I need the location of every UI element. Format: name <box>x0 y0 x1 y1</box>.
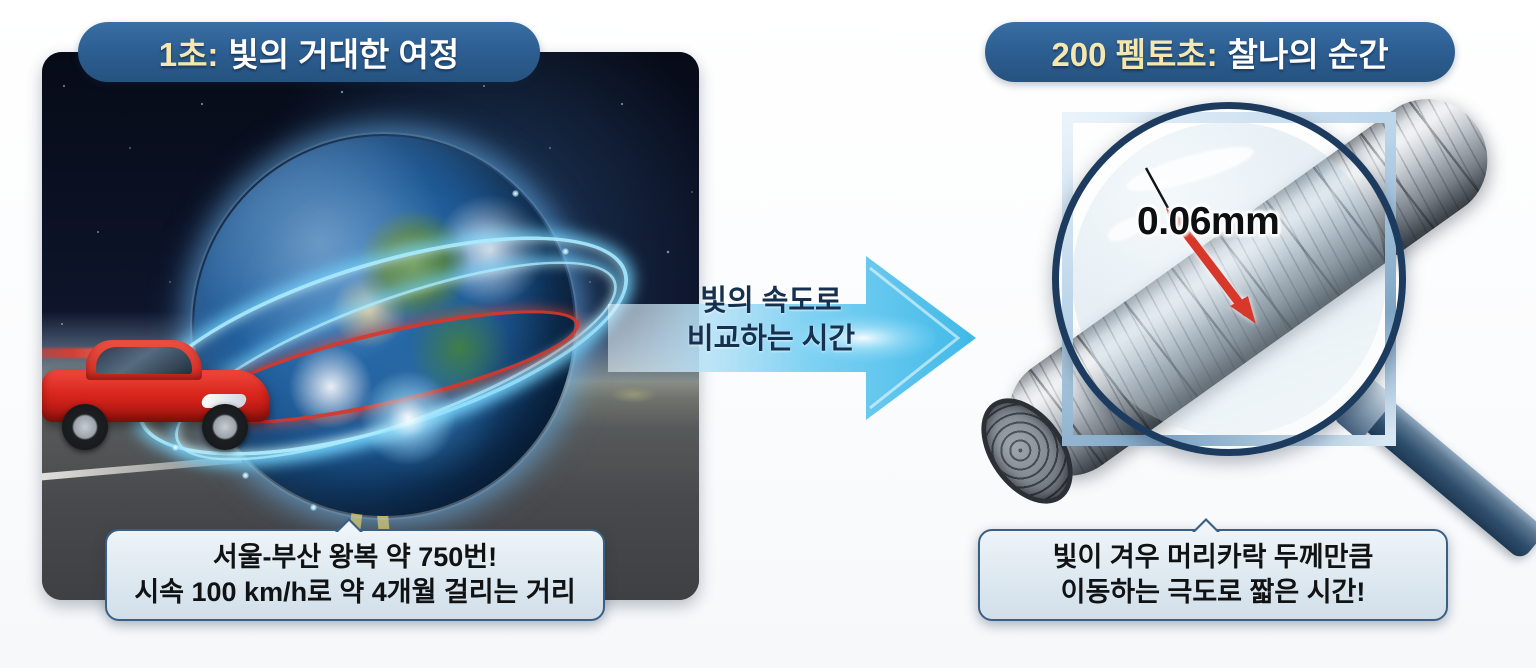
right-caption-line2: 이동하는 극도로 짧은 시간! <box>1061 575 1366 610</box>
sparkle-icon <box>242 472 249 479</box>
arrow-label-line2: 비교하는 시간 <box>666 320 876 358</box>
car-windshield <box>96 347 192 374</box>
right-title-highlight: 200 펨토초: <box>1051 28 1217 76</box>
infographic-canvas: 1초: 빛의 거대한 여정 서울-부산 왕복 약 750번! 시속 100 km… <box>0 0 1536 668</box>
right-caption-line1: 빛이 겨우 머리카락 두께만큼 <box>1053 540 1374 575</box>
red-sports-car-icon <box>42 334 286 452</box>
right-title-pill: 200 펨토초: 찰나의 순간 <box>985 22 1455 82</box>
right-scene-panel <box>960 60 1536 530</box>
left-scene-panel <box>42 52 699 600</box>
comparison-arrow: 빛의 속도로 비교하는 시간 <box>608 248 978 428</box>
caption-tail <box>335 518 363 532</box>
left-title-pill: 1초: 빛의 거대한 여정 <box>78 22 540 82</box>
car-wheel-front <box>202 404 248 450</box>
arrow-label-line1: 빛의 속도로 <box>666 282 876 320</box>
left-caption-line1: 서울-부산 왕복 약 750번! <box>213 540 497 575</box>
hair-thickness-label: 0.06mm <box>1137 200 1279 244</box>
magnifier-outer-ring <box>1052 102 1406 456</box>
sparkle-icon <box>512 190 519 197</box>
caption-tail <box>1192 518 1220 532</box>
left-title-rest: 빛의 거대한 여정 <box>228 28 459 76</box>
left-caption-line2: 시속 100 km/h로 약 4개월 걸리는 거리 <box>134 575 575 610</box>
sparkle-icon <box>310 504 317 511</box>
car-wheel-rear <box>62 404 108 450</box>
left-caption-bubble: 서울-부산 왕복 약 750번! 시속 100 km/h로 약 4개월 걸리는 … <box>105 529 605 621</box>
right-caption-bubble: 빛이 겨우 머리카락 두께만큼 이동하는 극도로 짧은 시간! <box>978 529 1448 621</box>
arrow-label: 빛의 속도로 비교하는 시간 <box>666 282 876 359</box>
light-burst-glow <box>360 370 456 466</box>
left-title-highlight: 1초: <box>159 28 219 76</box>
right-title-rest: 찰나의 순간 <box>1228 28 1389 76</box>
sparkle-icon <box>562 248 569 255</box>
